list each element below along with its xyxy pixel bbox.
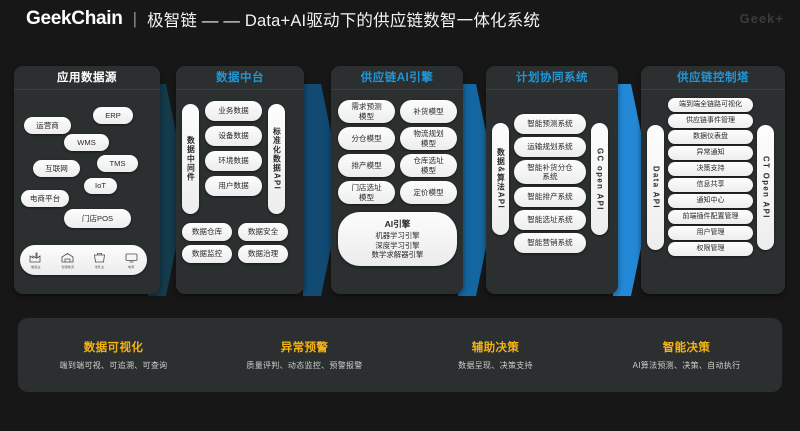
page-header: GeekChain | 极智链 — — Data+AI驱动下的供应链数智一体化系…: [0, 0, 800, 38]
system-transport-planning[interactable]: 运输规划系统: [514, 137, 586, 157]
panel-app-data-source[interactable]: 应用数据源 运营商 ERP WMS 互联网 TMS IoT 电商平台 门店POS…: [14, 66, 160, 294]
capability-data-visualization[interactable]: 数据可视化 端到端可视、可追溯、可查询: [18, 339, 209, 371]
panel-title-supply-chain-control-tower: 供应链控制塔: [641, 66, 785, 90]
capability-subtitle: 质量评判、动态监控、预警报警: [209, 360, 400, 371]
geek-plus-logo: Geek+: [740, 11, 784, 26]
panel-body-supply-chain-control-tower: Data API 端到端全链路可视化 供应链事件管理 数据仪表盘 异常通知 决策…: [641, 90, 785, 294]
system-intelligent-forecast[interactable]: 智能预测系统: [514, 114, 586, 134]
item-data-warehouse[interactable]: 数据仓库: [182, 223, 232, 241]
model-pricing[interactable]: 定价模型: [400, 181, 457, 204]
header-divider: |: [133, 9, 137, 29]
panel-title-supply-chain-ai-engine: 供应链AI引擎: [331, 66, 463, 90]
ai-engine-line-3: 数学求解器引擎: [372, 250, 424, 260]
system-smart-replenishment-split[interactable]: 智能补货分仓 系统: [514, 160, 586, 184]
model-warehouse-siting[interactable]: 仓库选址 模型: [400, 154, 457, 177]
item-user-data[interactable]: 用户数据: [205, 176, 262, 196]
ct-item-data-dashboard[interactable]: 数据仪表盘: [668, 130, 753, 144]
item-environment-data[interactable]: 环境数据: [205, 151, 262, 171]
capability-subtitle: 数据呈现、决策支持: [400, 360, 591, 371]
panel-body-data-middle-platform: 数据中间件 业务数据 设备数据 环境数据 用户数据 标准化数据API 数据仓库 …: [176, 90, 304, 294]
panel-title-app-data-source: 应用数据源: [14, 66, 160, 90]
factory-icon-caption: 制造业: [31, 264, 41, 269]
model-logistics-planning[interactable]: 物流规划 模型: [400, 127, 457, 150]
item-data-security[interactable]: 数据安全: [238, 223, 288, 241]
source-pill-wms[interactable]: WMS: [64, 134, 109, 151]
panel-data-middle-platform[interactable]: 数据中台 数据中间件 业务数据 设备数据 环境数据 用户数据 标准化数据API …: [176, 66, 304, 294]
source-pill-erp[interactable]: ERP: [93, 107, 133, 124]
panel-body-supply-chain-ai-engine: 需求预测 模型 补货模型 分仓模型 物流规划 模型 排产模型 仓库选址 模型 门…: [331, 90, 463, 294]
warehouse-icon: 仓储物流: [55, 252, 81, 269]
panel-supply-chain-ai-engine[interactable]: 供应链AI引擎 需求预测 模型 补货模型 分仓模型 物流规划 模型 排产模型 仓…: [331, 66, 463, 294]
ct-item-user-management[interactable]: 用户管理: [668, 226, 753, 240]
capability-exception-alert[interactable]: 异常预警 质量评判、动态监控、预警报警: [209, 339, 400, 371]
ct-item-exception-notification[interactable]: 异常通知: [668, 146, 753, 160]
panel-title-plan-collaboration-system: 计划协同系统: [486, 66, 618, 90]
system-smart-marketing[interactable]: 智能营销系统: [514, 233, 586, 253]
capability-subtitle: AI算法预测、决策、自动执行: [591, 360, 782, 371]
ecommerce-icon-caption: 电商: [128, 264, 134, 269]
ct-item-permission-management[interactable]: 权限管理: [668, 242, 753, 256]
ai-engine-box[interactable]: AI引擎 机器学习引擎 深度学习引擎 数学求解器引擎: [338, 212, 457, 266]
retail-icon: 零售业: [86, 252, 112, 269]
capability-title: 辅助决策: [400, 339, 591, 355]
rail-standard-data-api[interactable]: 标准化数据API: [268, 104, 285, 214]
rail-data-middleware[interactable]: 数据中间件: [182, 104, 199, 214]
page-title: 极智链 — — Data+AI驱动下的供应链数智一体化系统: [147, 7, 540, 31]
ai-engine-heading: AI引擎: [385, 218, 411, 230]
panel-plan-collaboration-system[interactable]: 计划协同系统 数据&算法API 智能预测系统 运输规划系统 智能补货分仓 系统 …: [486, 66, 618, 294]
source-pill-operator[interactable]: 运营商: [24, 117, 71, 134]
industry-icon-strip[interactable]: 制造业 仓储物流 零售业 电商: [20, 245, 147, 275]
item-data-governance[interactable]: 数据治理: [238, 245, 288, 263]
model-store-siting[interactable]: 门店选址 模型: [338, 181, 395, 204]
slide-canvas: GeekChain | 极智链 — — Data+AI驱动下的供应链数智一体化系…: [0, 0, 800, 431]
capability-title: 数据可视化: [18, 339, 209, 355]
item-device-data[interactable]: 设备数据: [205, 126, 262, 146]
ct-item-notification-center[interactable]: 通知中心: [668, 194, 753, 208]
panel-body-plan-collaboration-system: 数据&算法API 智能预测系统 运输规划系统 智能补货分仓 系统 智能排产系统 …: [486, 90, 618, 294]
rail-data-algorithm-api[interactable]: 数据&算法API: [492, 123, 509, 235]
ct-item-end-to-end-visibility[interactable]: 端到端全链路可视化: [668, 98, 753, 112]
ai-engine-line-2: 深度学习引擎: [375, 241, 419, 251]
warehouse-icon-caption: 仓储物流: [61, 264, 74, 269]
ct-item-plugin-config-management[interactable]: 前端插件配置管理: [668, 210, 753, 224]
rail-gc-open-api[interactable]: GC open API: [591, 123, 608, 235]
capability-subtitle: 端到端可视、可追溯、可查询: [18, 360, 209, 371]
source-pill-tms[interactable]: TMS: [97, 155, 138, 172]
model-warehouse-split[interactable]: 分仓模型: [338, 127, 395, 150]
system-smart-siting[interactable]: 智能选址系统: [514, 210, 586, 230]
panel-supply-chain-control-tower[interactable]: 供应链控制塔 Data API 端到端全链路可视化 供应链事件管理 数据仪表盘 …: [641, 66, 785, 294]
item-data-monitoring[interactable]: 数据监控: [182, 245, 232, 263]
ecommerce-icon: 电商: [118, 252, 144, 269]
panel-title-data-middle-platform: 数据中台: [176, 66, 304, 90]
model-demand-forecast[interactable]: 需求预测 模型: [338, 100, 395, 123]
rail-ct-open-api[interactable]: CT Open API: [757, 125, 774, 250]
retail-icon-caption: 零售业: [95, 264, 105, 269]
item-business-data[interactable]: 业务数据: [205, 101, 262, 121]
model-replenishment[interactable]: 补货模型: [400, 100, 457, 123]
rail-data-api[interactable]: Data API: [647, 125, 664, 250]
source-pill-ecommerce[interactable]: 电商平台: [21, 190, 69, 207]
brand-logo-text: GeekChain: [26, 8, 123, 30]
panel-body-app-data-source: 运营商 ERP WMS 互联网 TMS IoT 电商平台 门店POS 制造业 仓…: [14, 90, 160, 294]
system-smart-scheduling[interactable]: 智能排产系统: [514, 187, 586, 207]
source-pill-store-pos[interactable]: 门店POS: [64, 209, 131, 228]
capability-title: 智能决策: [591, 339, 782, 355]
capability-summary-bar: 数据可视化 端到端可视、可追溯、可查询 异常预警 质量评判、动态监控、预警报警 …: [18, 318, 782, 392]
ct-item-decision-support[interactable]: 决策支持: [668, 162, 753, 176]
model-production-scheduling[interactable]: 排产模型: [338, 154, 395, 177]
source-pill-internet[interactable]: 互联网: [33, 160, 80, 177]
ai-engine-line-1: 机器学习引擎: [375, 231, 419, 241]
capability-intelligent-decision[interactable]: 智能决策 AI算法预测、决策、自动执行: [591, 339, 782, 371]
capability-title: 异常预警: [209, 339, 400, 355]
ct-item-event-management[interactable]: 供应链事件管理: [668, 114, 753, 128]
ct-item-information-sharing[interactable]: 信息共享: [668, 178, 753, 192]
capability-assisted-decision[interactable]: 辅助决策 数据呈现、决策支持: [400, 339, 591, 371]
factory-icon: 制造业: [23, 252, 49, 269]
source-pill-iot[interactable]: IoT: [84, 178, 117, 194]
